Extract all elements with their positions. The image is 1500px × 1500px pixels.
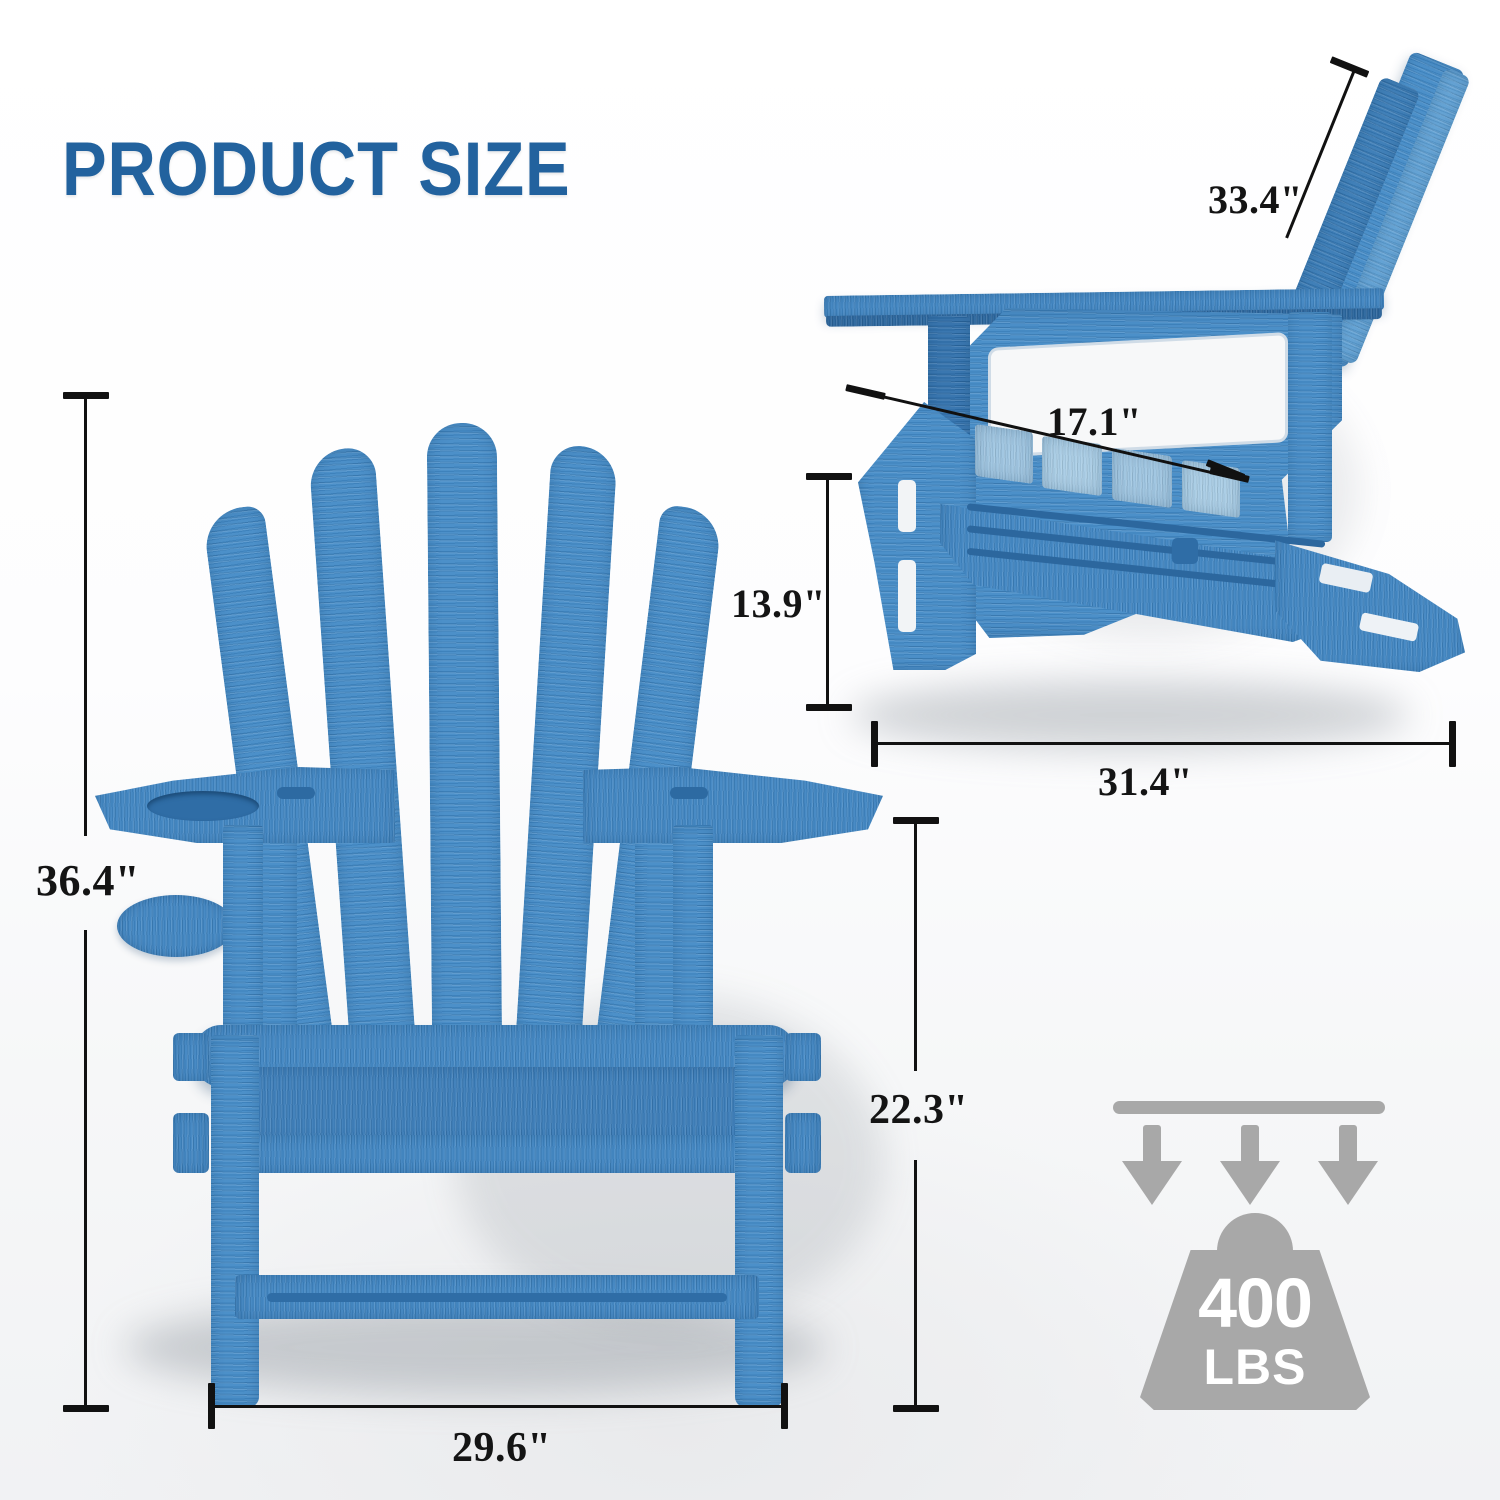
dimension-label-backrest-length: 33.4" (1208, 176, 1303, 223)
down-arrow-icon (1119, 1125, 1185, 1207)
dimension-label-seat-depth: 17.1" (1047, 398, 1142, 445)
armrest-right (583, 767, 883, 843)
arm-pivot-notch (670, 787, 708, 799)
dimension-label-folded-depth: 31.4" (1098, 758, 1193, 805)
folded-seat-slat (975, 424, 1033, 484)
dimension-label-seat-height: 22.3" (869, 1086, 968, 1134)
dimension-label-total-height: 36.4" (36, 855, 140, 906)
arm-support-left (223, 825, 263, 1055)
arm-support-right (673, 825, 713, 1050)
seat-bracket-right (785, 1033, 821, 1081)
folded-rear-foot (1275, 532, 1465, 672)
product-size-infographic: PRODUCT SIZE (0, 0, 1500, 1500)
front-apron (235, 1135, 755, 1173)
seat-bracket-right-lower (785, 1113, 821, 1173)
dimension-label-overall-width: 29.6" (452, 1424, 551, 1472)
front-foot-slot (898, 480, 916, 532)
stretcher-groove (267, 1293, 727, 1302)
seat-surface (227, 1067, 762, 1142)
weight-capacity-unit: LBS (1105, 1338, 1405, 1396)
folded-rear-rail (1288, 312, 1332, 542)
seat-bracket-left (173, 1033, 209, 1081)
product-image-front-view (95, 395, 885, 1410)
weight-capacity-number: 400 (1105, 1263, 1405, 1343)
front-leg-left (211, 1035, 259, 1407)
front-foot-slot (898, 560, 916, 632)
down-arrow-icon (1217, 1125, 1283, 1207)
weight-capacity-badge: 400 LBS (1105, 1095, 1405, 1420)
dimension-label-folded-height: 13.9" (731, 580, 826, 627)
page-title: PRODUCT SIZE (62, 126, 570, 213)
load-bar-icon (1113, 1101, 1385, 1114)
cup-holder-recess (147, 791, 259, 821)
hardware-bracket (1172, 538, 1198, 564)
product-image-folded-side-view (820, 40, 1470, 740)
down-arrow-icon (1315, 1125, 1381, 1207)
arm-pivot-notch (277, 787, 315, 799)
seat-bracket-left-lower (173, 1113, 209, 1173)
front-leg-right (735, 1035, 783, 1407)
